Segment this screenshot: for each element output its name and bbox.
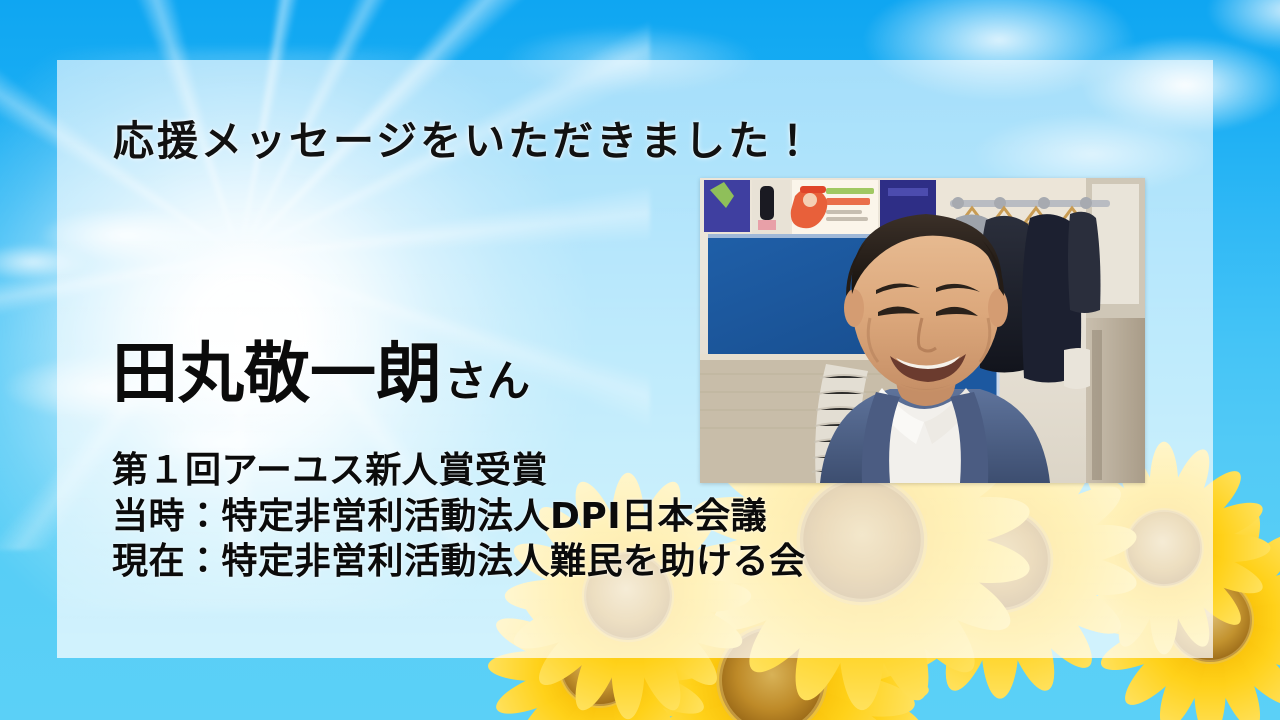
subtitle-block: 第１回アーユス新人賞受賞 当時：特定非営利活動法人DPI日本会議 現在：特定非営… — [112, 448, 806, 585]
person-name-row: 田丸敬一朗 さん — [112, 341, 530, 407]
person-name: 田丸敬一朗 — [112, 341, 442, 407]
subtitle-line-then: 当時：特定非営利活動法人DPI日本会議 — [112, 494, 806, 540]
person-honorific: さん — [444, 361, 530, 404]
subtitle-line-award: 第１回アーユス新人賞受賞 — [112, 448, 806, 494]
slide-root: 応援メッセージをいただきました！ — [0, 0, 1280, 720]
subtitle-line-now: 現在：特定非営利活動法人難民を助ける会 — [112, 539, 806, 585]
page-title: 応援メッセージをいただきました！ — [113, 107, 816, 167]
person-photo — [700, 178, 1145, 483]
